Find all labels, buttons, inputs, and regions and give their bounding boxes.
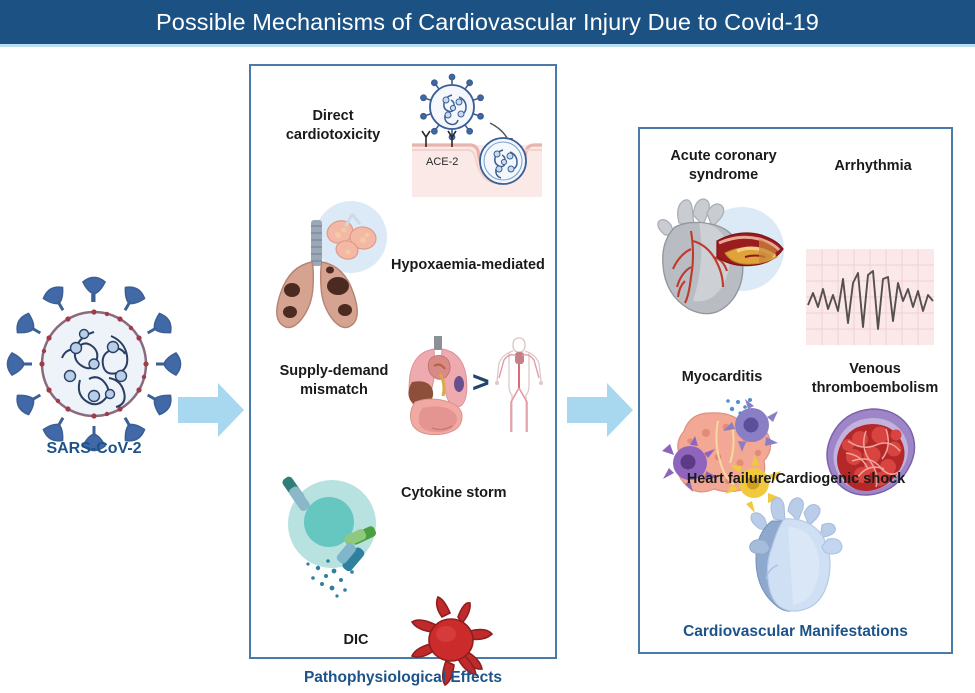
source-label: SARS-CoV-2 [14, 440, 174, 458]
label-myocarditis: Myocarditis [667, 368, 777, 387]
label-direct-cardiotoxicity: Direct cardiotoxicity [274, 107, 392, 144]
pathophysiology-caption: Pathophysiological Effects [249, 669, 557, 687]
label-venous-thromboembolism: Venous thromboembolism [810, 360, 940, 397]
heart-coronary-plaque-icon [655, 197, 785, 322]
label-heart-failure: Heart failure/Cardiogenic shock [662, 470, 930, 489]
ecg-strip-icon [806, 249, 934, 345]
coronavirus-icon [14, 284, 174, 444]
arrow-pathophysiology-to-manifestations [567, 380, 635, 440]
label-dic: DIC [328, 631, 384, 650]
arrow-source-to-pathophysiology [178, 380, 246, 440]
inflamed-myocardium-icon [660, 397, 790, 507]
greater-than-operator: > [472, 366, 490, 399]
label-acute-coronary-syndrome: Acute coronary syndrome [656, 147, 791, 184]
ace2-sublabel: ACE-2 [426, 156, 458, 168]
organs-vs-body-icon: > [399, 330, 551, 440]
failing-heart-icon [740, 497, 860, 617]
diagram-canvas: SARS-CoV-2 Direct cardiotoxicity [0, 47, 975, 693]
lungs-alveoli-icon [268, 202, 390, 317]
page-header: Possible Mechanisms of Cardiovascular In… [0, 0, 975, 44]
label-supply-demand: Supply-demand mismatch [274, 362, 394, 399]
virus-cell-entry-icon: ACE-2 [404, 73, 544, 198]
label-arrhythmia: Arrhythmia [818, 157, 928, 176]
manifestations-caption: Cardiovascular Manifestations [638, 623, 953, 641]
label-cytokine-storm: Cytokine storm [401, 484, 541, 503]
label-hypoxaemia: Hypoxaemia-mediated [391, 256, 551, 275]
page-title: Possible Mechanisms of Cardiovascular In… [156, 9, 819, 36]
immune-cell-icon [282, 472, 392, 597]
